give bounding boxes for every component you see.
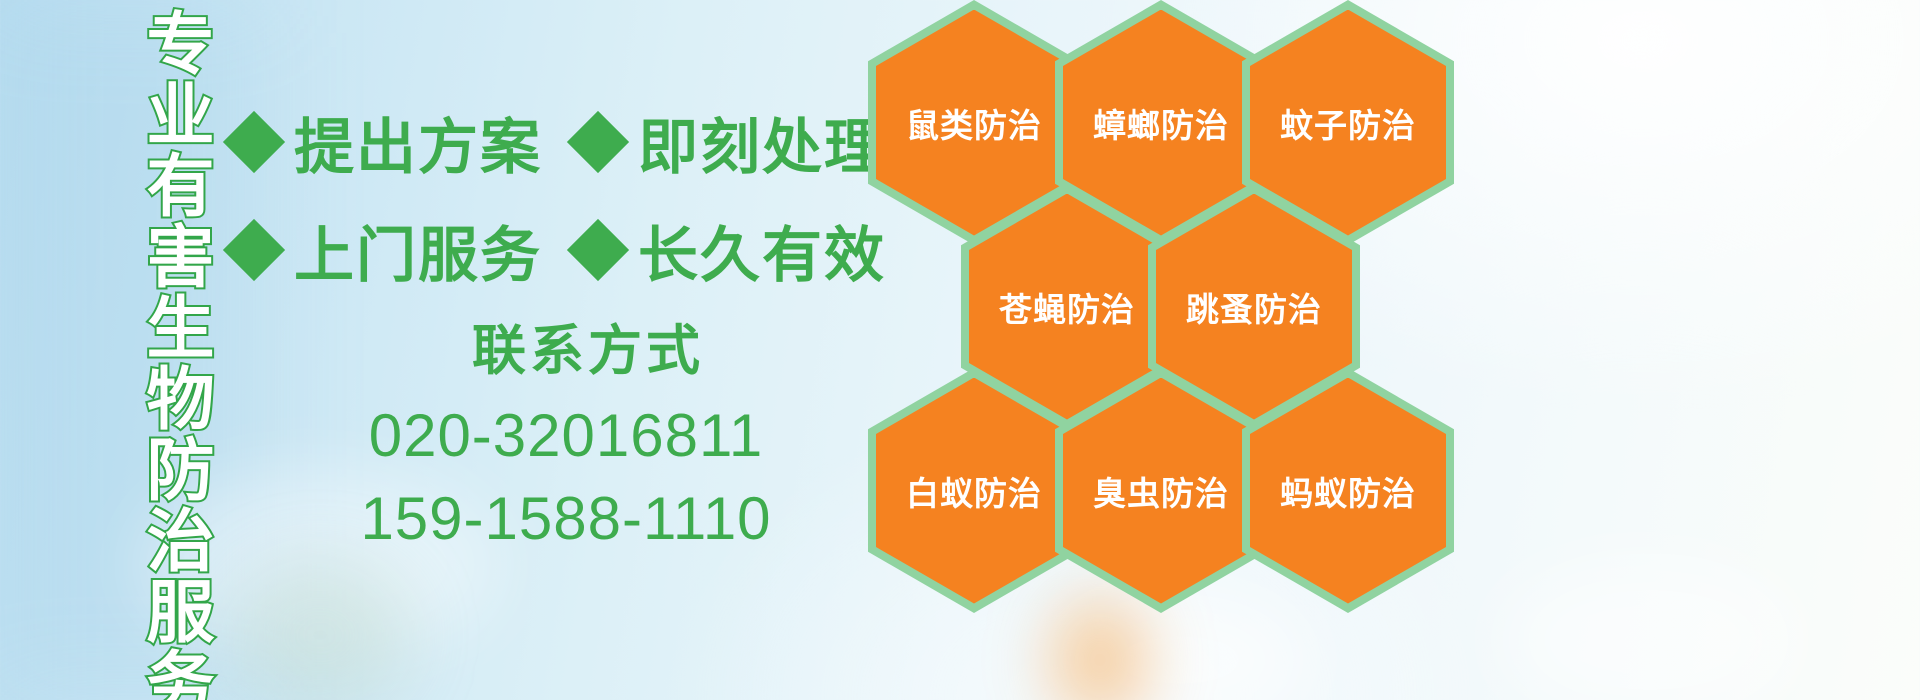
hex-label: 苍蝇防治: [999, 283, 1135, 331]
hex-fill: 白蚁防治: [876, 378, 1072, 604]
feature-item-2: 上门服务: [232, 207, 542, 294]
feature-item-1: 即刻处理: [576, 99, 886, 186]
feature-list: 提出方案 即刻处理 上门服务 长久有效: [232, 88, 872, 304]
feature-row-1: 提出方案 即刻处理: [232, 88, 872, 196]
phone-landline[interactable]: 020-32016811: [260, 401, 872, 470]
diamond-bullet-icon: [223, 111, 285, 173]
feature-label: 长久有效: [638, 207, 886, 294]
feature-label: 即刻处理: [638, 99, 886, 186]
phone-mobile[interactable]: 159-1588-1110: [260, 484, 872, 553]
diamond-bullet-icon: [223, 219, 285, 281]
hex-label: 蚂蚁防治: [1280, 467, 1416, 515]
diamond-bullet-icon: [567, 219, 629, 281]
hex-label: 跳蚤防治: [1186, 283, 1322, 331]
background-blob-right-bottom: [1500, 560, 1800, 700]
hex-label: 蟑螂防治: [1093, 99, 1229, 147]
service-honeycomb: 鼠类防治 蟑螂防治 蚊子防治 苍蝇防治 跳蚤防治 白蚁防治 臭虫防治 蚂蚁防治: [860, 0, 1460, 564]
feature-item-0: 提出方案: [232, 99, 542, 186]
feature-item-3: 长久有效: [576, 207, 886, 294]
hex-label: 白蚁防治: [906, 467, 1042, 515]
hex-fill: 蚂蚁防治: [1250, 378, 1446, 604]
contact-title: 联系方式: [304, 306, 872, 385]
hex-label: 鼠类防治: [906, 99, 1042, 147]
diamond-bullet-icon: [567, 111, 629, 173]
background-blob-left-lower: [230, 560, 410, 700]
background-blob-orange: [1055, 600, 1145, 700]
hex-label: 蚊子防治: [1280, 99, 1416, 147]
hex-label: 臭虫防治: [1093, 467, 1229, 515]
contact-block: 联系方式 020-32016811 159-1588-1110: [232, 306, 872, 553]
vertical-headline: 专业有害生物防治服务: [104, 8, 208, 568]
background-blob-center-bottom: [1050, 590, 1310, 700]
feature-label: 上门服务: [294, 207, 542, 294]
hex-fill: 臭虫防治: [1063, 378, 1259, 604]
feature-label: 提出方案: [294, 99, 542, 186]
feature-row-2: 上门服务 长久有效: [232, 196, 872, 304]
